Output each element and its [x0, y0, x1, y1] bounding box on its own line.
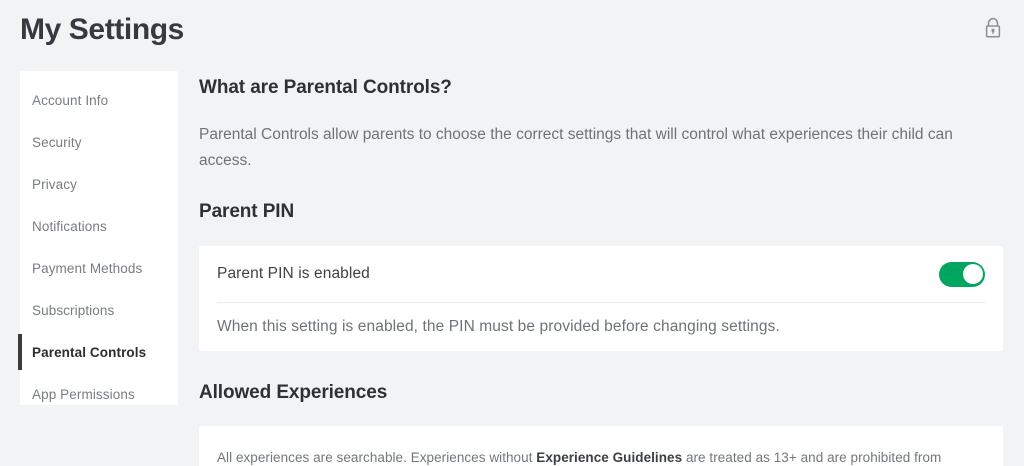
sidebar-item-subscriptions[interactable]: Subscriptions [20, 289, 178, 331]
allowed-experiences-card: All experiences are searchable. Experien… [199, 426, 1003, 466]
settings-sidebar: Account Info Security Privacy Notificati… [20, 71, 178, 405]
allowed-experiences-heading: Allowed Experiences [199, 381, 1003, 405]
parent-pin-note: When this setting is enabled, the PIN mu… [199, 303, 1003, 351]
sidebar-item-label: Payment Methods [32, 261, 142, 276]
sidebar-item-account-info[interactable]: Account Info [20, 79, 178, 121]
sidebar-item-parental-controls[interactable]: Parental Controls [20, 331, 178, 373]
page-title: My Settings [20, 10, 184, 50]
parent-pin-row-label: Parent PIN is enabled [217, 265, 370, 283]
parent-pin-heading: Parent PIN [199, 200, 1003, 224]
experience-guidelines-link[interactable]: Experience Guidelines [536, 450, 682, 465]
parent-pin-card: Parent PIN is enabled When this setting … [199, 246, 1003, 351]
sidebar-item-label: Notifications [32, 219, 107, 234]
sidebar-item-label: App Permissions [32, 387, 135, 402]
sidebar-item-label: Account Info [32, 93, 108, 108]
sidebar-item-app-permissions[interactable]: App Permissions [20, 373, 178, 415]
lock-icon [984, 17, 1002, 39]
lock-icon-button[interactable] [980, 14, 1006, 42]
parent-pin-toggle[interactable] [939, 262, 985, 287]
sidebar-item-payment-methods[interactable]: Payment Methods [20, 247, 178, 289]
parental-controls-intro-heading: What are Parental Controls? [199, 76, 1003, 100]
sidebar-item-notifications[interactable]: Notifications [20, 205, 178, 247]
sidebar-item-privacy[interactable]: Privacy [20, 163, 178, 205]
sidebar-item-label: Parental Controls [32, 345, 146, 360]
allowed-experiences-text: All experiences are searchable. Experien… [217, 442, 985, 466]
settings-main-content: What are Parental Controls? Parental Con… [199, 71, 1003, 466]
toggle-knob [963, 264, 983, 284]
sidebar-item-label: Privacy [32, 177, 77, 192]
sidebar-item-security[interactable]: Security [20, 121, 178, 163]
parent-pin-row: Parent PIN is enabled [199, 246, 1003, 302]
sidebar-item-label: Subscriptions [32, 303, 114, 318]
sidebar-item-label: Security [32, 135, 82, 150]
page-header: My Settings [0, 0, 1024, 62]
parental-controls-intro-paragraph: Parental Controls allow parents to choos… [199, 122, 959, 174]
allowed-text-part-1: All experiences are searchable. Experien… [217, 450, 536, 465]
